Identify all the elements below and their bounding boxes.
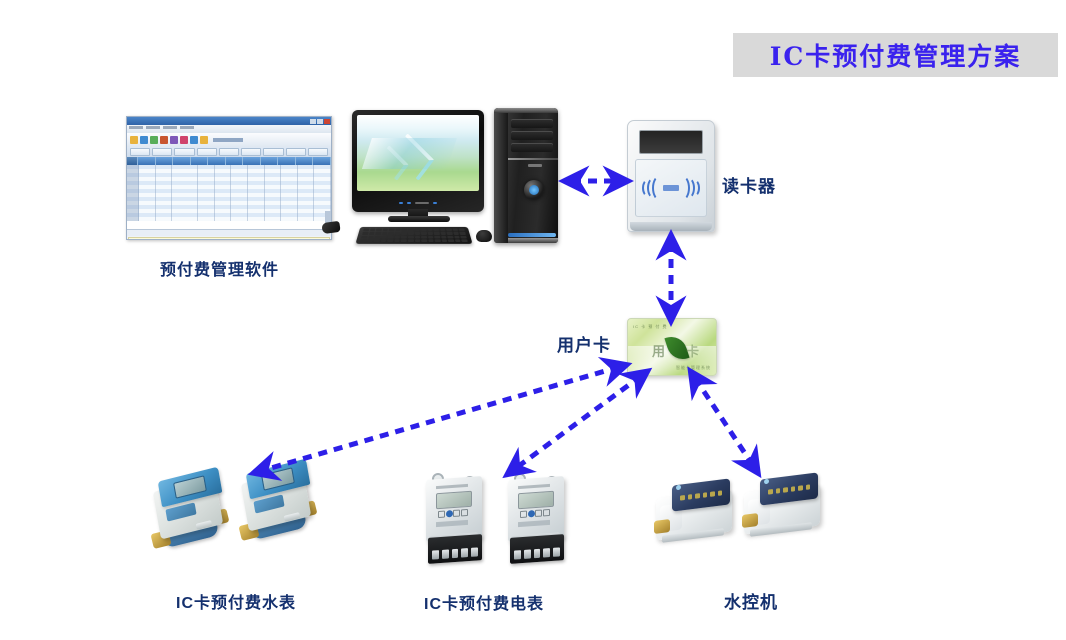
desktop-computer-node <box>352 108 562 248</box>
keyboard-row <box>361 235 467 238</box>
water-meter-2 <box>238 462 330 554</box>
table-header-cell <box>191 157 209 165</box>
table-cell <box>215 217 232 221</box>
tab-2[interactable] <box>152 148 172 156</box>
table-cell <box>298 217 315 221</box>
card-reader-panel[interactable] <box>635 159 707 217</box>
table-cell <box>172 217 198 221</box>
diagram-canvas: IC卡预付费管理方案 <box>0 0 1066 640</box>
drive-bay-3[interactable] <box>511 143 553 152</box>
monitor-led-icon <box>407 202 411 204</box>
power-button[interactable] <box>524 180 544 200</box>
computer-tower <box>494 108 558 243</box>
rfid-wave-icon <box>640 177 702 199</box>
water-controller-caption: 水控机 <box>724 588 778 613</box>
keyboard-keys <box>360 228 468 242</box>
wallpaper-arrow-icon-2 <box>377 145 409 181</box>
water-meter-caption: IC卡预付费水表 <box>176 589 296 613</box>
query-icon[interactable] <box>170 136 178 144</box>
user-card-caption: 用户卡 <box>557 331 611 356</box>
tab-3[interactable] <box>174 148 194 156</box>
table-cell <box>265 217 282 221</box>
table-row[interactable] <box>127 217 331 221</box>
meter-display <box>518 491 554 510</box>
tower-logo <box>528 164 542 167</box>
electric-meter-1 <box>420 472 492 572</box>
table-header-cell <box>261 157 279 165</box>
tower-top-panel <box>494 108 558 113</box>
card-bottom-text: 智能卡管理系统 <box>676 365 711 371</box>
drive-bay-1[interactable] <box>511 119 553 128</box>
window-titlebar <box>127 117 331 125</box>
window-toolbar[interactable] <box>127 133 331 147</box>
menu-item-4[interactable] <box>180 126 194 129</box>
software-caption: 预付费管理软件 <box>160 256 279 280</box>
arrow-card-to-water-controller <box>695 378 752 464</box>
tower-base <box>508 238 558 243</box>
window-tabbar[interactable] <box>127 147 331 157</box>
tab-7[interactable] <box>263 148 283 156</box>
report-icon[interactable] <box>200 136 208 144</box>
title-banner: IC卡预付费管理方案 <box>733 33 1058 77</box>
water-meter-1 <box>150 470 242 562</box>
grid-footer-row <box>127 229 331 236</box>
toolbar-label <box>213 138 243 142</box>
card-reader-body <box>627 120 715 232</box>
meter-display <box>436 491 472 510</box>
card-face-text: 用 <box>652 341 665 360</box>
tab-4[interactable] <box>197 148 217 156</box>
monitor-chin <box>352 198 484 208</box>
software-window <box>126 116 332 240</box>
table-cell <box>281 217 298 221</box>
tower-trim <box>508 158 558 160</box>
terminal-slots <box>514 547 560 559</box>
electric-meter-caption: IC卡预付费电表 <box>424 590 544 614</box>
monitor-stand-base <box>388 216 450 222</box>
menu-item-2[interactable] <box>146 126 160 129</box>
table-header-cell <box>226 157 244 165</box>
tab-9[interactable] <box>308 148 328 156</box>
monitor-screen <box>357 115 479 191</box>
table-header-cell <box>156 157 174 165</box>
table-cell <box>139 217 156 221</box>
menu-item-3[interactable] <box>163 126 177 129</box>
message-panel <box>128 237 330 240</box>
keyboard-row <box>362 232 466 235</box>
table-header-cell <box>173 157 191 165</box>
meter-terminal-block <box>510 534 564 564</box>
monitor-led-icon <box>399 202 403 204</box>
monitor-led-icon <box>433 202 437 204</box>
card-face-text-2: 卡 <box>686 341 699 360</box>
keyboard[interactable] <box>355 227 472 244</box>
table-header-cell <box>296 157 314 165</box>
maximize-icon[interactable] <box>317 119 323 124</box>
table-cell <box>248 217 265 221</box>
water-controller-1 <box>652 478 748 548</box>
monitor <box>352 110 484 212</box>
water-controller-2 <box>740 472 836 542</box>
new-icon[interactable] <box>130 136 138 144</box>
meter-terminal-block <box>428 534 482 564</box>
tab-5[interactable] <box>219 148 239 156</box>
open-icon[interactable] <box>140 136 148 144</box>
table-cell <box>156 217 173 221</box>
table-header-cell <box>208 157 226 165</box>
prepaid-management-software-node <box>126 116 332 240</box>
table-cell <box>127 217 139 221</box>
monitor-bezel <box>352 110 484 212</box>
menu-item-1[interactable] <box>129 126 143 129</box>
controller-brass-nut <box>742 513 758 528</box>
table-header-row <box>127 157 331 165</box>
controller-brass-nut <box>654 519 670 534</box>
table-cell <box>231 217 248 221</box>
table-header-cell <box>313 157 331 165</box>
tab-6[interactable] <box>241 148 261 156</box>
window-menubar[interactable] <box>127 125 331 133</box>
table-header-cell <box>243 157 261 165</box>
keyboard-row <box>363 228 465 231</box>
electric-meter-2 <box>502 472 574 572</box>
keyboard-row <box>360 239 468 242</box>
card-top-text: IC 卡 预 付 费 <box>633 324 667 330</box>
software-node-mouse <box>321 221 340 234</box>
card-reader-node <box>627 120 715 232</box>
minimize-icon[interactable] <box>310 119 316 124</box>
table-body[interactable] <box>127 165 331 229</box>
table-header-cell <box>138 157 156 165</box>
user-card-node: IC 卡 预 付 费 用 卡 智能卡管理系统 <box>627 318 717 376</box>
terminal-slots <box>432 547 478 559</box>
table-header-cell <box>278 157 296 165</box>
computer-mouse[interactable] <box>476 230 492 242</box>
drive-bay-2[interactable] <box>511 131 553 140</box>
table-cell <box>198 217 215 221</box>
arrow-card-to-water-meter <box>264 367 619 470</box>
save-icon[interactable] <box>150 136 158 144</box>
monitor-brand-label <box>415 202 429 204</box>
card-reader-caption: 读卡器 <box>722 172 776 197</box>
user-icon[interactable] <box>180 136 188 144</box>
close-icon[interactable] <box>324 119 330 124</box>
arrow-card-to-electric-meter <box>516 376 641 468</box>
tower-led-strip-icon <box>508 233 556 237</box>
table-header-cell <box>127 157 138 165</box>
tab-1[interactable] <box>130 148 150 156</box>
card-reader-base <box>630 222 712 231</box>
tab-8[interactable] <box>286 148 306 156</box>
card-reader-display <box>639 130 703 154</box>
print-icon[interactable] <box>160 136 168 144</box>
page-title: IC卡预付费管理方案 <box>770 37 1022 73</box>
card-icon[interactable] <box>190 136 198 144</box>
